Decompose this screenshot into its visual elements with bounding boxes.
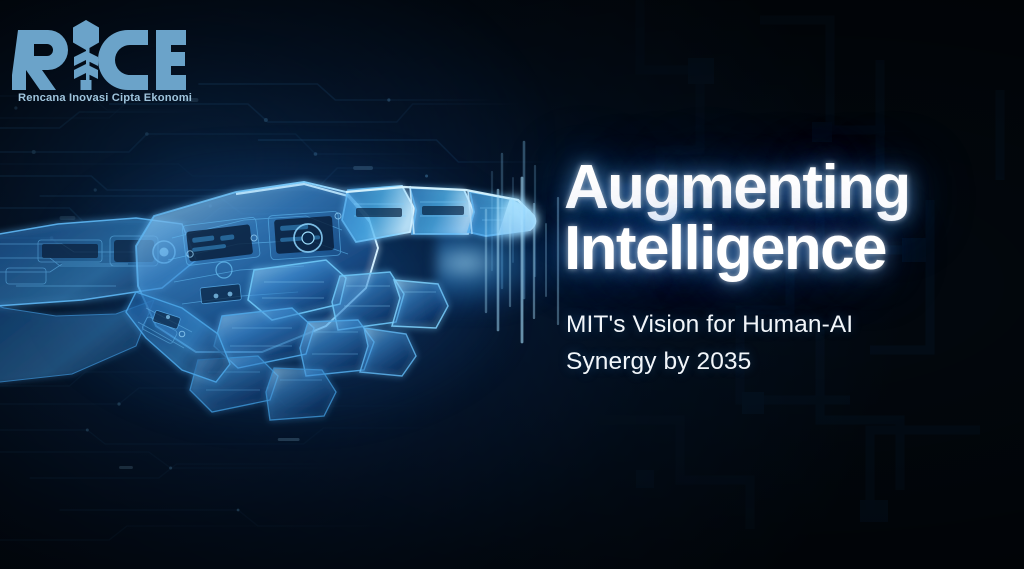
presentation-slide: Rencana Inovasi Cipta Ekonomi: [0, 0, 1024, 569]
rice-logo[interactable]: Rencana Inovasi Cipta Ekonomi: [12, 18, 192, 104]
headline-line-1: Augmenting: [564, 158, 1000, 219]
page-title: Augmenting Intelligence: [564, 158, 1000, 280]
robotic-hand-artwork: [0, 120, 546, 460]
slide-text-block: Augmenting Intelligence MIT's Vision for…: [564, 158, 1000, 381]
page-subtitle: MIT's Vision for Human-AI Synergy by 203…: [566, 306, 1000, 382]
logo-tagline: Rencana Inovasi Cipta Ekonomi: [18, 92, 192, 104]
subhead-line-1: MIT's Vision for Human-AI: [566, 306, 1000, 344]
robotic-hand-svg: [0, 120, 546, 460]
headline-line-2: Intelligence: [564, 219, 1000, 280]
subhead-line-2: Synergy by 2035: [566, 343, 1000, 381]
rice-wordmark-icon: [12, 18, 188, 90]
